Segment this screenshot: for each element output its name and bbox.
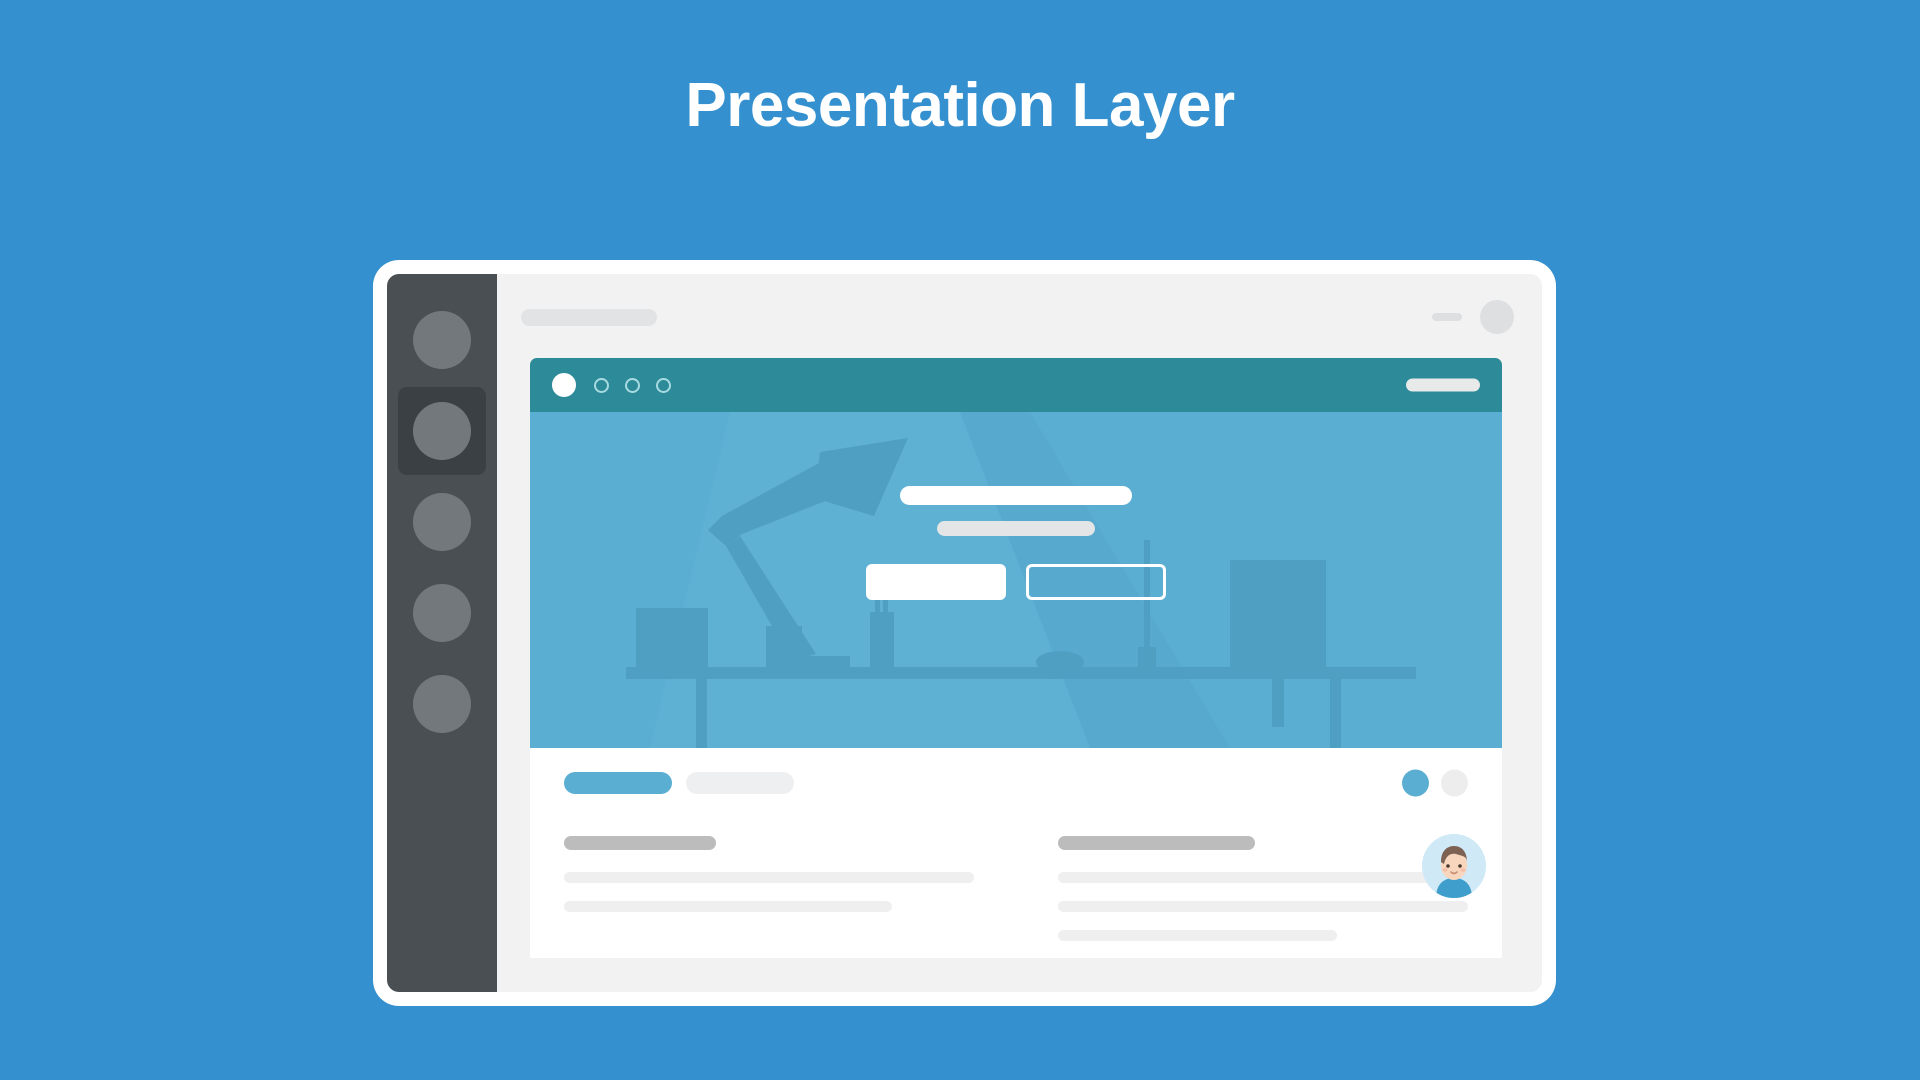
content-section: [530, 748, 1502, 958]
content-column-left: [564, 836, 974, 958]
tablet-screen: [387, 274, 1542, 992]
content-tab-inactive[interactable]: [686, 772, 794, 794]
column-text-line: [564, 901, 892, 912]
content-tab-active[interactable]: [564, 772, 672, 794]
sidebar-circle-icon-3: [413, 493, 471, 551]
hero-secondary-button[interactable]: [1026, 564, 1166, 600]
column-heading-placeholder: [564, 836, 716, 850]
sidebar-item-1[interactable]: [398, 296, 486, 384]
hero-content: [816, 486, 1216, 600]
hero-headline-placeholder: [900, 486, 1132, 505]
pagination-dot-2[interactable]: [1441, 770, 1468, 797]
browser-tab-inactive-icon-2[interactable]: [625, 378, 640, 393]
sidebar-circle-icon-4: [413, 584, 471, 642]
column-text-line: [1058, 901, 1468, 912]
sidebar-circle-icon-5: [413, 675, 471, 733]
avatar-person-icon: [1422, 834, 1486, 898]
content-tabs-row: [564, 772, 1468, 794]
minimize-icon[interactable]: [1432, 313, 1462, 321]
hero-button-group: [816, 564, 1216, 600]
app-main-area: [497, 274, 1542, 992]
app-window-controls: [1432, 300, 1514, 334]
column-text-line: [1058, 930, 1337, 941]
sidebar-circle-icon-2: [413, 402, 471, 460]
browser-tab-active-icon[interactable]: [552, 373, 576, 397]
browser-window: [530, 358, 1502, 958]
sidebar-item-4[interactable]: [398, 569, 486, 657]
browser-tab-inactive-icon-1[interactable]: [594, 378, 609, 393]
sidebar-item-3[interactable]: [398, 478, 486, 566]
app-title-placeholder: [521, 309, 657, 326]
sidebar-item-5[interactable]: [398, 660, 486, 748]
hero-subheadline-placeholder: [937, 521, 1095, 536]
sidebar-item-2[interactable]: [398, 387, 486, 475]
content-columns: [564, 836, 1468, 958]
pagination-dot-1[interactable]: [1402, 770, 1429, 797]
page-title: Presentation Layer: [0, 72, 1920, 140]
column-text-line: [1058, 872, 1468, 883]
tablet-device-frame: [373, 260, 1556, 1006]
app-sidebar: [387, 274, 497, 992]
sidebar-circle-icon-1: [413, 311, 471, 369]
column-text-line: [564, 872, 974, 883]
user-avatar[interactable]: [1422, 834, 1486, 898]
pagination-controls: [1402, 770, 1468, 797]
app-topbar: [497, 274, 1542, 360]
content-column-right: [1058, 836, 1468, 958]
hero-primary-button[interactable]: [866, 564, 1006, 600]
browser-tab-inactive-icon-3[interactable]: [656, 378, 671, 393]
browser-url-bar[interactable]: [1406, 379, 1480, 392]
profile-circle-icon[interactable]: [1480, 300, 1514, 334]
hero-section: [530, 412, 1502, 748]
column-heading-placeholder: [1058, 836, 1255, 850]
browser-titlebar: [530, 358, 1502, 412]
